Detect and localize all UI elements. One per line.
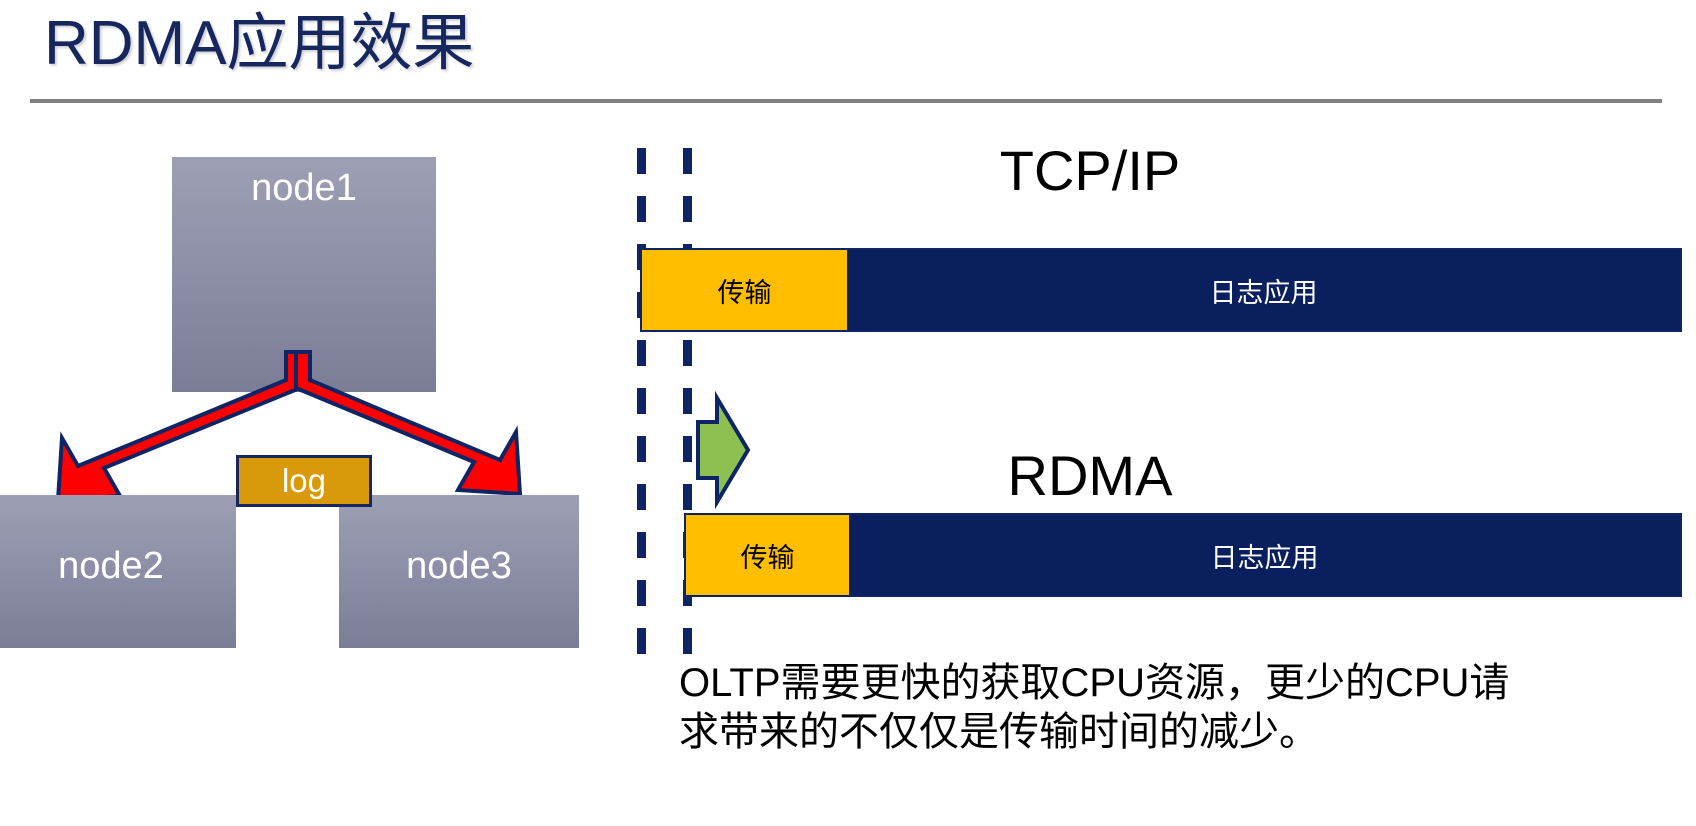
protocol-label-tcpip: TCP/IP (880, 138, 1300, 203)
caption-line-2: 求带来的不仅仅是传输时间的减少。 (679, 708, 1689, 757)
protocol-label-rdma: RDMA (880, 443, 1300, 508)
slide-canvas: RDMA应用效果 node1 node2 node3 log TCP/IP 传输… (0, 0, 1696, 826)
segment-transfer-rdma: 传输 (686, 515, 849, 595)
segment-log-apply-rdma: 日志应用 (849, 515, 1680, 595)
cluster-node-2: node2 (0, 495, 236, 648)
cluster-node-3: node3 (339, 495, 579, 648)
segment-transfer-tcpip: 传输 (642, 250, 847, 330)
log-box-label: log (282, 462, 326, 499)
timing-bar-tcpip: 传输 日志应用 (640, 248, 1682, 332)
caption-line-1: OLTP需要更快的获取CPU资源，更少的CPU请 (679, 659, 1689, 708)
timing-bar-rdma: 传输 日志应用 (684, 513, 1682, 597)
speedup-arrow-icon (640, 390, 760, 510)
cluster-node-2-label: node2 (58, 545, 164, 587)
caption-text: OLTP需要更快的获取CPU资源，更少的CPU请 求带来的不仅仅是传输时间的减少… (679, 659, 1689, 757)
cluster-node-3-label: node3 (406, 545, 512, 587)
cluster-node-1-label: node1 (251, 167, 357, 209)
log-box: log (236, 455, 372, 507)
page-title: RDMA应用效果 (44, 6, 475, 82)
segment-log-apply-tcpip: 日志应用 (847, 250, 1680, 330)
title-divider (30, 99, 1662, 103)
